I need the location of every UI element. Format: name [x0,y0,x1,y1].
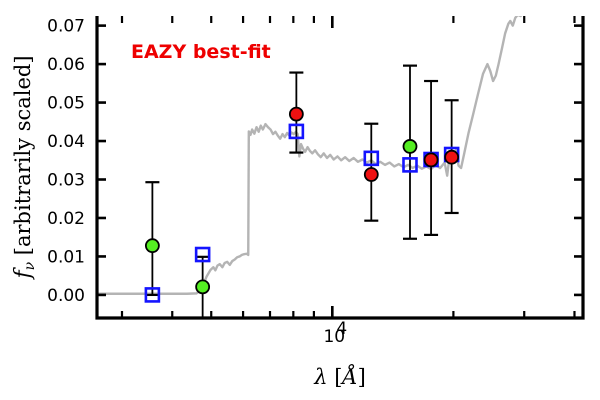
observed-point-3 [365,168,378,181]
y-tick-label-2: 0.02 [47,209,85,229]
y-tick-label-6: 0.06 [47,55,85,75]
y-axis-label: fν [arbitrarily scaled] [11,55,38,280]
observed-point-1 [196,280,209,293]
figure-container: 0.000.010.020.030.040.050.060.07 104 λ [… [0,0,600,400]
svg-text:fν [arbitrarily scaled]: fν [arbitrarily scaled] [11,55,38,280]
y-tick-label-1: 0.01 [47,247,85,267]
observed-point-6 [445,151,458,164]
x-axis-tick-labels: 104 [323,319,347,347]
svg-text:4: 4 [336,319,347,339]
y-tick-label-5: 0.05 [47,94,85,114]
x-tick-label-0: 104 [323,319,347,347]
sed-plot: 0.000.010.020.030.040.050.060.07 104 λ [… [0,0,600,400]
y-tick-label-3: 0.03 [47,171,85,191]
best-fit-annotation: EAZY best-fit [131,41,271,63]
y-tick-label-7: 0.07 [47,17,85,37]
observed-point-4 [403,140,416,153]
x-axis-label: λ [Å] [313,364,366,389]
y-tick-label-4: 0.04 [47,132,85,152]
observed-point-0 [146,239,159,252]
y-tick-label-0: 0.00 [47,286,85,306]
observed-point-2 [290,108,303,121]
observed-point-5 [425,153,438,166]
y-axis-tick-labels: 0.000.010.020.030.040.050.060.07 [47,17,85,306]
